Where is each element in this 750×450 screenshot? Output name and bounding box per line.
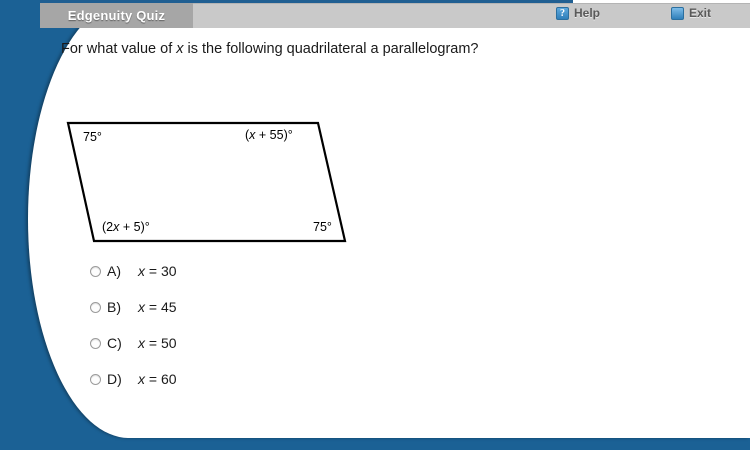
question-prompt-part2: is the following quadrilateral a paralle… (184, 41, 479, 57)
answer-option-c-value: x = 50 (138, 335, 177, 351)
answer-options-list: A) x = 30 B) x = 45 C) x = 50 D) x = 60 (90, 253, 390, 397)
exit-button[interactable]: Exit (671, 6, 711, 20)
answer-option-d[interactable]: D) x = 60 (90, 361, 390, 397)
answer-option-d-value: x = 60 (138, 371, 177, 387)
answer-a-variable: x (138, 263, 145, 279)
answer-d-equals: = 60 (145, 371, 177, 387)
help-button-label: Help (574, 6, 600, 20)
answer-c-equals: = 50 (145, 335, 177, 351)
answer-option-b[interactable]: B) x = 45 (90, 289, 390, 325)
exit-door-icon (671, 7, 684, 20)
answer-option-c-letter: C) (107, 335, 129, 351)
answer-option-d-letter: D) (107, 371, 129, 387)
answer-c-variable: x (138, 335, 145, 351)
angle-label-bottom-right: 75° (313, 220, 332, 234)
window-title: Edgenuity Quiz (68, 8, 165, 23)
angle-label-bottom-left: (2x + 5)° (102, 220, 150, 234)
help-button[interactable]: ? Help (556, 6, 600, 20)
quiz-content: For what value of x is the following qua… (0, 28, 750, 438)
question-variable: x (176, 41, 183, 57)
title-tab[interactable]: Edgenuity Quiz (40, 3, 193, 28)
radio-button-c[interactable] (90, 338, 101, 349)
answer-a-equals: = 30 (145, 263, 177, 279)
answer-d-variable: x (138, 371, 145, 387)
answer-option-a-value: x = 30 (138, 263, 177, 279)
answer-option-b-letter: B) (107, 299, 129, 315)
radio-button-a[interactable] (90, 266, 101, 277)
exit-button-label: Exit (689, 6, 711, 20)
question-prompt-part1: For what value of (61, 41, 176, 57)
angle-bl-suffix: + 5)° (119, 220, 149, 234)
answer-option-a-letter: A) (107, 263, 129, 279)
answer-option-b-value: x = 45 (138, 299, 177, 315)
angle-tr-suffix: + 55)° (255, 128, 292, 142)
angle-bl-prefix: (2 (102, 220, 113, 234)
question-prompt: For what value of x is the following qua… (61, 41, 479, 57)
quiz-window: Edgenuity Quiz ? Help Exit For what valu… (0, 0, 750, 450)
angle-label-top-right: (x + 55)° (245, 128, 293, 142)
answer-option-c[interactable]: C) x = 50 (90, 325, 390, 361)
help-question-icon: ? (556, 7, 569, 20)
parallelogram-figure: 75° (x + 55)° (2x + 5)° 75° (55, 83, 365, 253)
answer-option-a[interactable]: A) x = 30 (90, 253, 390, 289)
answer-b-variable: x (138, 299, 145, 315)
radio-button-d[interactable] (90, 374, 101, 385)
radio-button-b[interactable] (90, 302, 101, 313)
angle-label-top-left: 75° (83, 130, 102, 144)
answer-b-equals: = 45 (145, 299, 177, 315)
